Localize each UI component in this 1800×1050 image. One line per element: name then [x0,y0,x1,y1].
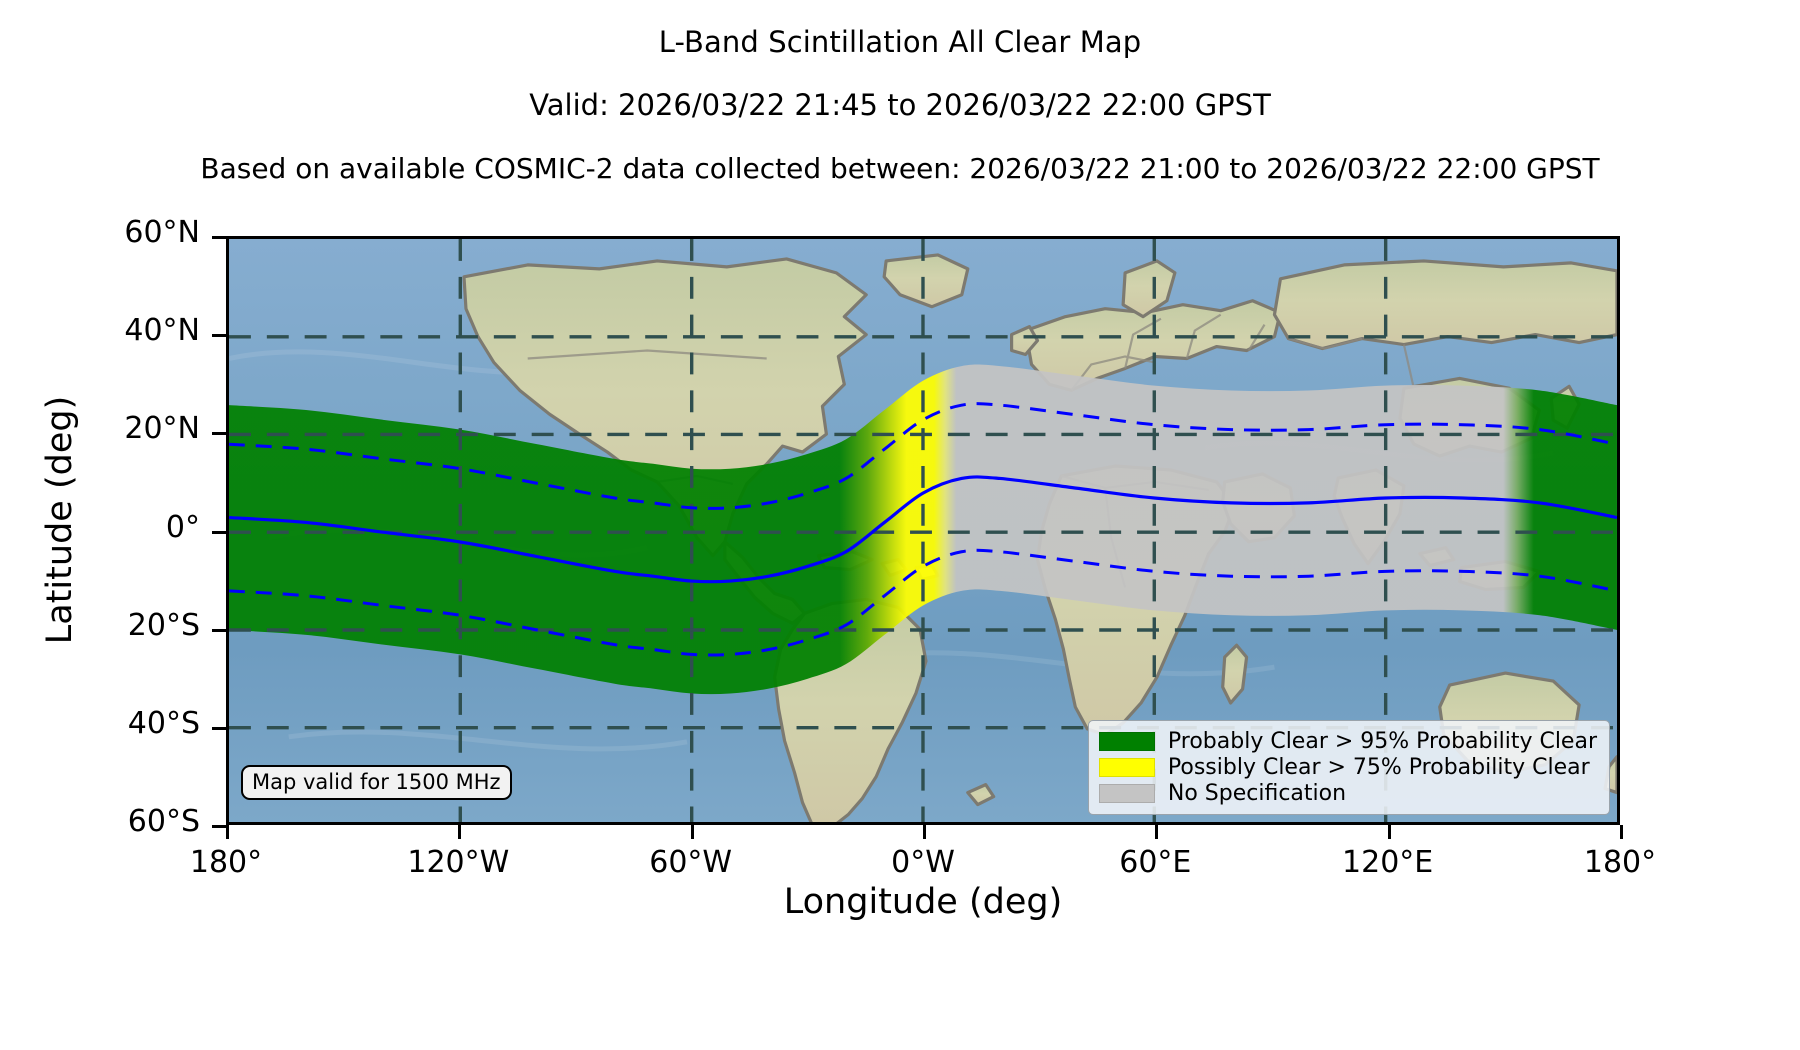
legend-item-label: No Specification [1168,781,1346,806]
frequency-annotation-text: Map valid for 1500 MHz [252,770,501,794]
x-axis-tick-label: 180° [1510,845,1730,880]
scintillation-map-figure: L-Band Scintillation All Clear Map Valid… [0,0,1800,1050]
y-axis-tick [212,334,226,337]
page-title: L-Band Scintillation All Clear Map [0,25,1800,59]
x-axis-label: Longitude (deg) [226,882,1620,922]
y-axis-tick-label: 60°N [0,215,200,250]
x-axis-tick [458,825,461,839]
x-axis-tick-label: 120°E [1278,845,1498,880]
legend-color-swatch [1099,732,1155,751]
data-source-subtitle: Based on available COSMIC-2 data collect… [0,152,1800,185]
legend-item: Possibly Clear > 75% Probability Clear [1099,754,1597,780]
map-legend: Probably Clear > 95% Probability ClearPo… [1088,720,1610,815]
y-axis-tick-label: 40°S [0,706,200,741]
x-axis-tick-label: 60°E [1045,845,1265,880]
y-axis-tick [212,727,226,730]
x-axis-tick [923,825,926,839]
x-axis-tick [1155,825,1158,839]
y-axis-tick-label: 0° [0,510,200,545]
legend-item-label: Probably Clear > 95% Probability Clear [1168,729,1597,754]
y-axis-tick-label: 20°S [0,608,200,643]
frequency-annotation: Map valid for 1500 MHz [241,765,512,800]
x-axis-tick-label: 120°W [348,845,568,880]
x-axis-tick [226,825,229,839]
y-axis-tick-label: 40°N [0,313,200,348]
y-axis-tick [212,531,226,534]
x-axis-tick [1388,825,1391,839]
x-axis-tick-label: 180° [116,845,336,880]
x-axis-tick [1620,825,1623,839]
x-axis-tick-label: 0°W [813,845,1033,880]
legend-item: No Specification [1099,780,1597,806]
y-axis-tick [212,432,226,435]
y-axis-tick-label: 60°S [0,804,200,839]
legend-color-swatch [1099,758,1155,777]
legend-color-swatch [1099,784,1155,803]
validity-subtitle: Valid: 2026/03/22 21:45 to 2026/03/22 22… [0,88,1800,122]
y-axis-tick [212,236,226,239]
x-axis-tick [691,825,694,839]
y-axis-tick [212,629,226,632]
y-axis-tick-label: 20°N [0,411,200,446]
y-axis-tick [212,825,226,828]
x-axis-tick-label: 60°W [581,845,801,880]
legend-item: Probably Clear > 95% Probability Clear [1099,728,1597,754]
map-plot-area[interactable]: Map valid for 1500 MHz Probably Clear > … [226,236,1620,825]
legend-item-label: Possibly Clear > 75% Probability Clear [1168,755,1590,780]
